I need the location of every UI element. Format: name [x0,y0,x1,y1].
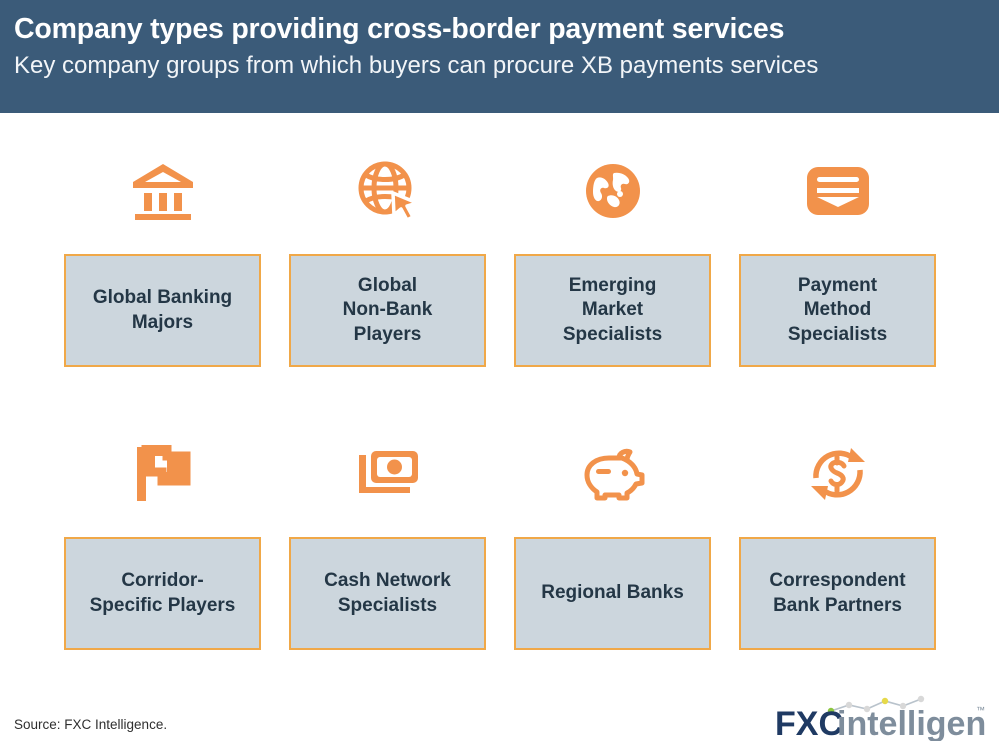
card-label: Global Banking Majors [87,286,238,335]
card-box[interactable]: Correspondent Bank Partners [739,537,936,650]
card-row-1: Global Banking Majors [0,141,999,381]
footer: Source: FXC Intelligence. FXC intelligen… [0,683,999,749]
card-box[interactable]: Regional Banks [514,537,711,650]
dollar-refresh-icon [739,424,936,524]
card-emerging-market-specialists[interactable]: Emerging Market Specialists [514,141,711,381]
svg-text:intelligence: intelligence [837,705,985,741]
card-box[interactable]: Corridor- Specific Players [64,537,261,650]
bank-icon [64,141,261,241]
page-title: Company types providing cross-border pay… [14,14,999,46]
cards-area: Global Banking Majors [0,113,999,683]
payment-card-icon [739,141,936,241]
card-box[interactable]: Payment Method Specialists [739,254,936,367]
infographic-canvas: Company types providing cross-border pay… [0,0,999,749]
flag-icon [64,424,261,524]
card-cash-network-specialists[interactable]: Cash Network Specialists [289,424,486,664]
card-global-banking-majors[interactable]: Global Banking Majors [64,141,261,381]
source-note: Source: FXC Intelligence. [14,717,167,732]
svg-text:FXC: FXC [775,705,843,741]
card-box[interactable]: Cash Network Specialists [289,537,486,650]
card-payment-method-specialists[interactable]: Payment Method Specialists [739,141,936,381]
card-correspondent-bank-partners[interactable]: Correspondent Bank Partners [739,424,936,664]
card-label: Correspondent Bank Partners [763,569,911,618]
card-label: Regional Banks [535,581,690,605]
card-box[interactable]: Global Non-Bank Players [289,254,486,367]
card-label: Emerging Market Specialists [557,274,668,347]
globe-cursor-icon [289,141,486,241]
card-box[interactable]: Emerging Market Specialists [514,254,711,367]
card-label: Payment Method Specialists [782,274,893,347]
page-subtitle: Key company groups from which buyers can… [14,52,999,80]
card-label: Corridor- Specific Players [84,569,242,618]
card-label: Cash Network Specialists [318,569,457,618]
fxc-intelligence-logo: FXC intelligence ™ [775,695,985,741]
card-corridor-specific-players[interactable]: Corridor- Specific Players [64,424,261,664]
banknotes-icon [289,424,486,524]
card-row-2: Corridor- Specific Players Cash Network … [0,424,999,664]
card-label: Global Non-Bank Players [337,274,439,347]
card-regional-banks[interactable]: Regional Banks [514,424,711,664]
piggy-bank-icon [514,424,711,524]
globe-filled-icon [514,141,711,241]
svg-text:™: ™ [976,705,985,715]
card-box[interactable]: Global Banking Majors [64,254,261,367]
header-band: Company types providing cross-border pay… [0,0,999,113]
card-global-non-bank-players[interactable]: Global Non-Bank Players [289,141,486,381]
